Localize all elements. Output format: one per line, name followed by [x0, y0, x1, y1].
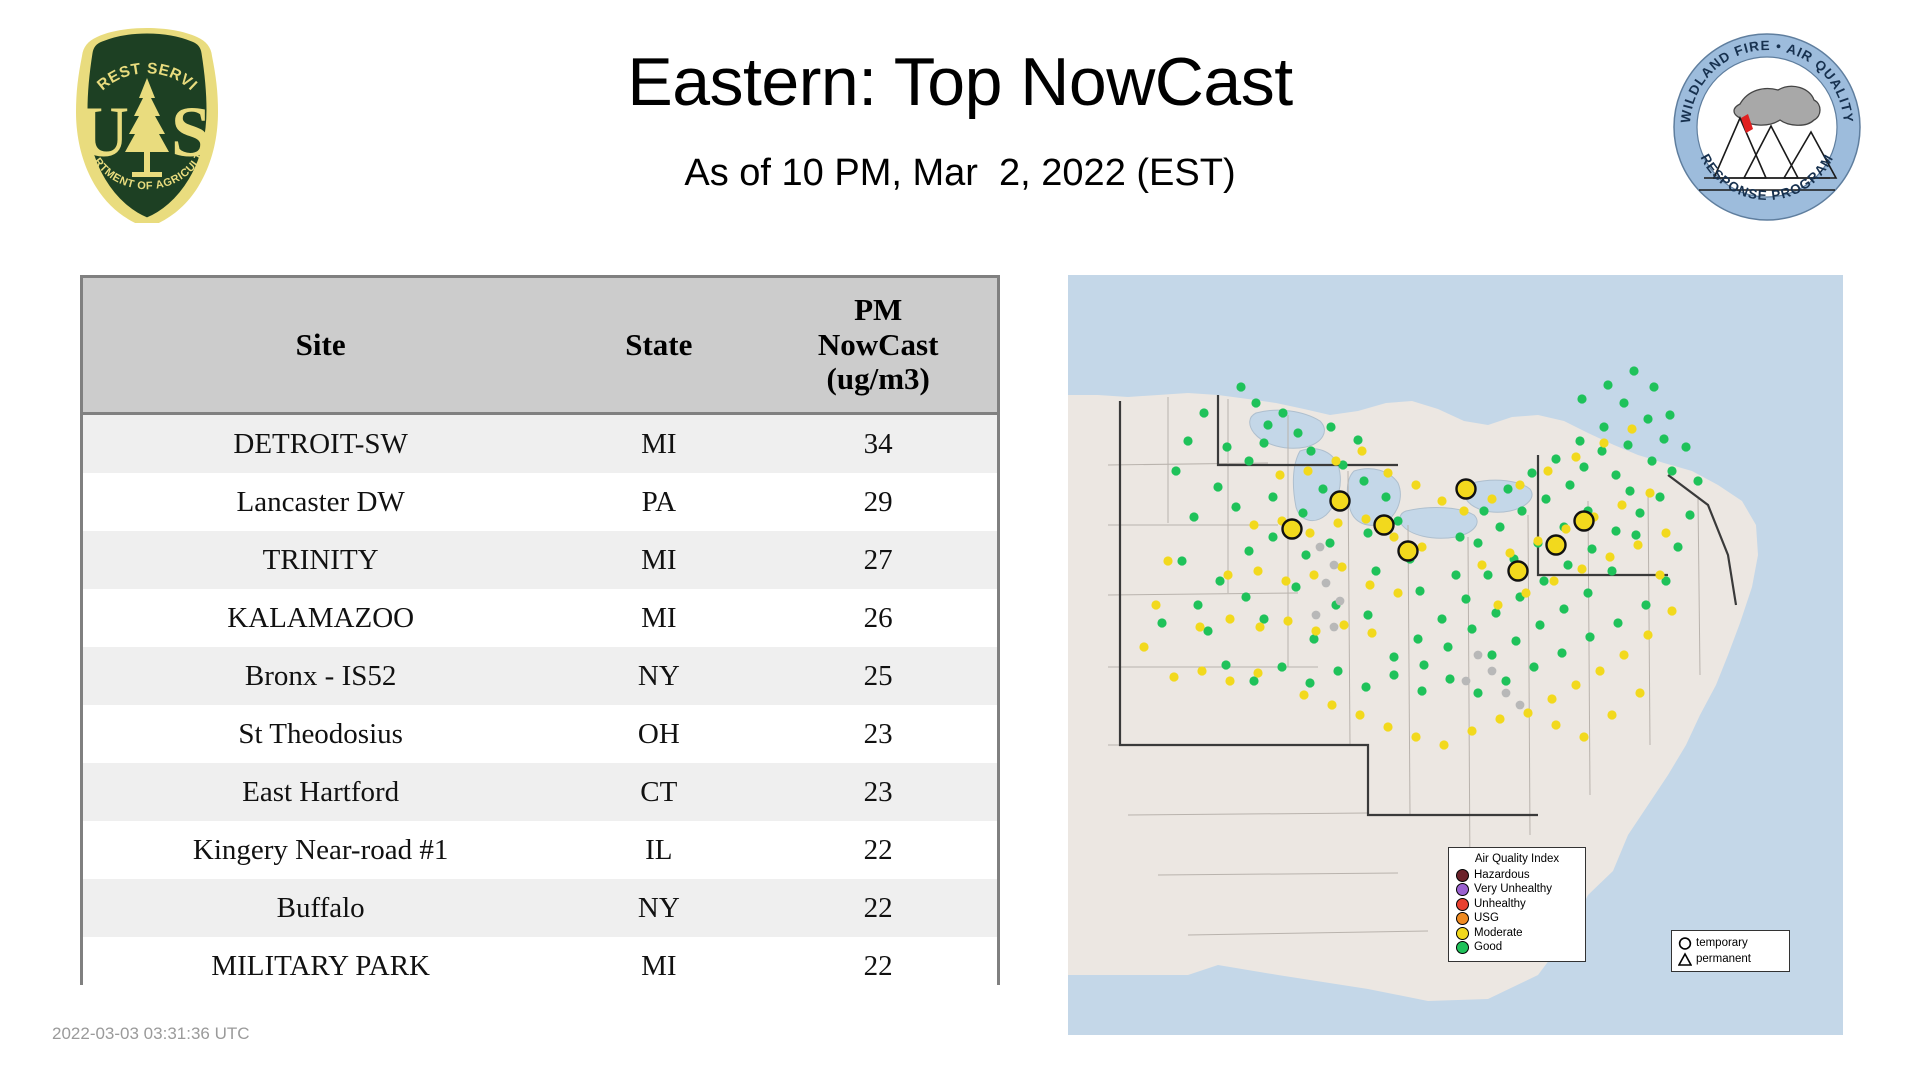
monitor-dot-moderate [1275, 470, 1284, 479]
aqi-color-swatch [1456, 941, 1469, 954]
monitor-dot-moderate [1303, 466, 1312, 475]
monitor-dot-top-site [1509, 562, 1528, 581]
monitor-dot-moderate [1299, 690, 1308, 699]
pm-line-3: (ug/m3) [827, 361, 930, 396]
value-cell: 23 [759, 705, 997, 763]
generation-timestamp: 2022-03-03 03:31:36 UTC [52, 1024, 250, 1044]
monitor-dot-good [1599, 422, 1608, 431]
monitor-dot-good [1249, 676, 1258, 685]
monitor-dot-good [1359, 476, 1368, 485]
aqi-color-swatch [1456, 898, 1469, 911]
monitor-dot-moderate [1571, 452, 1580, 461]
temporary-label: temporary [1696, 937, 1748, 949]
aqi-legend-title: Air Quality Index [1456, 853, 1578, 865]
monitor-dot-good [1393, 516, 1402, 525]
monitor-dot-good [1641, 600, 1650, 609]
monitor-dot-good [1623, 440, 1632, 449]
aqi-legend-item: Moderate [1456, 926, 1578, 941]
aqi-color-swatch [1456, 912, 1469, 925]
monitor-dot-moderate [1393, 588, 1402, 597]
monitor-dot-good [1643, 414, 1652, 423]
aqi-legend-item: Unhealthy [1456, 897, 1578, 912]
monitor-dot-moderate [1339, 620, 1348, 629]
monitor-dot-good [1511, 636, 1520, 645]
monitor-dot-moderate [1411, 732, 1420, 741]
monitor-dot-moderate [1311, 626, 1320, 635]
monitor-dot-good [1244, 546, 1253, 555]
aqi-legend-item: USG [1456, 912, 1578, 927]
monitor-dot-moderate [1495, 714, 1504, 723]
monitor-dot-moderate [1661, 528, 1670, 537]
monitor-dot-good [1277, 662, 1286, 671]
monitor-dot-good [1236, 382, 1245, 391]
monitor-dot-moderate [1327, 700, 1336, 709]
monitor-dot-moderate [1467, 726, 1476, 735]
monitor-dot-moderate [1655, 570, 1664, 579]
state-cell: CT [558, 763, 759, 821]
monitor-dot-good [1659, 434, 1668, 443]
aqi-legend-label: Very Unhealthy [1474, 884, 1552, 896]
monitor-dot-good [1611, 526, 1620, 535]
monitor-dot-moderate [1437, 496, 1446, 505]
monitor-dot-unknown [1502, 689, 1511, 698]
monitor-dot-moderate [1635, 688, 1644, 697]
monitor-dot-unknown [1488, 667, 1497, 676]
monitor-dot-good [1381, 492, 1390, 501]
monitor-dot-good [1585, 632, 1594, 641]
monitor-dot-unknown [1330, 623, 1339, 632]
legend-row-permanent: permanent [1678, 951, 1783, 967]
monitor-dot-moderate [1151, 600, 1160, 609]
state-cell: PA [558, 473, 759, 531]
monitor-dot-moderate [1367, 628, 1376, 637]
monitor-dot-good [1681, 442, 1690, 451]
monitor-dot-moderate [1439, 740, 1448, 749]
monitor-dot-moderate [1305, 528, 1314, 537]
monitor-dot-good [1213, 482, 1222, 491]
value-cell: 22 [759, 937, 997, 995]
monitor-dot-moderate [1643, 630, 1652, 639]
state-cell: MI [558, 531, 759, 589]
monitor-dot-moderate [1417, 542, 1426, 551]
monitor-dot-good [1613, 618, 1622, 627]
monitor-dot-good [1579, 462, 1588, 471]
monitor-dot-good [1587, 544, 1596, 553]
monitor-dot-moderate [1223, 570, 1232, 579]
monitor-dot-good [1305, 678, 1314, 687]
monitor-dot-good [1473, 688, 1482, 697]
air-quality-map[interactable]: Air Quality Index HazardousVery Unhealth… [1068, 275, 1843, 1035]
monitor-dot-moderate [1283, 616, 1292, 625]
monitor-dot-moderate [1337, 562, 1346, 571]
monitor-dot-moderate [1561, 524, 1570, 533]
monitor-dot-good [1318, 484, 1327, 493]
monitor-dot-good [1301, 550, 1310, 559]
monitor-dot-moderate [1411, 480, 1420, 489]
column-header-state: State [558, 278, 759, 414]
aqi-legend-label: Good [1474, 942, 1502, 954]
value-cell: 23 [759, 763, 997, 821]
monitor-dot-moderate [1579, 732, 1588, 741]
monitor-dot-moderate [1389, 532, 1398, 541]
monitor-dot-moderate [1225, 676, 1234, 685]
monitor-dot-good [1221, 660, 1230, 669]
monitor-dot-good [1291, 582, 1300, 591]
monitor-dot-good [1326, 422, 1335, 431]
monitor-dot-good [1529, 662, 1538, 671]
pm-line-2: NowCast [818, 327, 939, 362]
monitor-dot-good [1222, 442, 1231, 451]
aqi-legend-label: USG [1474, 913, 1499, 925]
site-cell: East Hartford [83, 763, 558, 821]
monitor-dot-moderate [1255, 622, 1264, 631]
monitor-dot-good [1363, 528, 1372, 537]
monitor-dot-top-site [1331, 492, 1350, 511]
monitor-dot-good [1649, 382, 1658, 391]
site-cell: Bronx - IS52 [83, 647, 558, 705]
site-cell: Kingery Near-road #1 [83, 821, 558, 879]
monitor-dot-good [1685, 510, 1694, 519]
monitor-dot-moderate [1331, 456, 1340, 465]
value-cell: 29 [759, 473, 997, 531]
table-row: Kingery Near-road #1IL22 [83, 821, 997, 879]
state-cell: NY [558, 879, 759, 937]
monitor-dot-good [1157, 618, 1166, 627]
monitor-dot-top-site [1547, 536, 1566, 555]
monitor-dot-moderate [1383, 722, 1392, 731]
value-cell: 22 [759, 879, 997, 937]
monitor-dot-unknown [1516, 701, 1525, 710]
monitor-dot-good [1268, 492, 1277, 501]
table-row: East HartfordCT23 [83, 763, 997, 821]
monitor-dot-good [1491, 608, 1500, 617]
monitor-dot-good [1557, 648, 1566, 657]
monitor-dot-good [1563, 560, 1572, 569]
monitor-dot-unknown [1316, 543, 1325, 552]
monitor-dot-good [1443, 642, 1452, 651]
monitor-dot-good [1306, 446, 1315, 455]
aqi-color-swatch [1456, 883, 1469, 896]
monitor-dot-good [1517, 506, 1526, 515]
monitor-dot-good [1577, 394, 1586, 403]
monitor-dot-moderate [1551, 720, 1560, 729]
monitor-dot-good [1495, 522, 1504, 531]
monitor-dot-good [1361, 682, 1370, 691]
monitor-dot-good [1325, 538, 1334, 547]
usfs-forest-service-logo: FOREST SERVICE U S DEPARTMENT OF AGRICUL… [52, 28, 242, 223]
monitor-dot-moderate [1477, 560, 1486, 569]
monitor-dot-good [1371, 566, 1380, 575]
monitor-dot-unknown [1322, 579, 1331, 588]
monitor-dot-moderate [1515, 480, 1524, 489]
monitor-dot-moderate [1627, 424, 1636, 433]
value-cell: 25 [759, 647, 997, 705]
state-cell: IL [558, 821, 759, 879]
value-cell: 34 [759, 414, 997, 474]
monitor-dot-good [1231, 502, 1240, 511]
monitor-dot-moderate [1459, 506, 1468, 515]
state-cell: OH [558, 705, 759, 763]
monitor-dot-good [1647, 456, 1656, 465]
monitor-dot-top-site [1399, 542, 1418, 561]
monitor-dot-moderate [1523, 708, 1532, 717]
monitor-dot-good [1244, 456, 1253, 465]
monitor-dot-good [1363, 610, 1372, 619]
monitor-dot-good [1665, 410, 1674, 419]
monitor-dot-moderate [1487, 494, 1496, 503]
monitor-dot-unknown [1312, 611, 1321, 620]
monitor-dot-good [1193, 600, 1202, 609]
monitor-dot-unknown [1462, 677, 1471, 686]
table-row: MILITARY PARKMI22 [83, 937, 997, 995]
monitor-dot-good [1445, 674, 1454, 683]
monitor-dot-good [1607, 566, 1616, 575]
site-cell: TRINITY [83, 531, 558, 589]
monitor-dot-good [1635, 508, 1644, 517]
monitor-dot-good [1259, 614, 1268, 623]
monitor-dot-moderate [1225, 614, 1234, 623]
nowcast-table-panel: Site State PM NowCast (ug/m3) DETROIT-SW… [80, 275, 1000, 985]
page-subtitle: As of 10 PM, Mar 2, 2022 (EST) [280, 152, 1640, 195]
legend-row-temporary: temporary [1678, 935, 1783, 951]
monitor-dot-good [1177, 556, 1186, 565]
monitor-dot-moderate [1599, 438, 1608, 447]
aqi-color-swatch [1456, 927, 1469, 940]
value-cell: 27 [759, 531, 997, 589]
monitor-dot-good [1389, 652, 1398, 661]
aqi-legend-label: Moderate [1474, 928, 1523, 940]
table-row: DETROIT-SWMI34 [83, 414, 997, 474]
monitor-dot-good [1251, 398, 1260, 407]
monitor-dot-good [1199, 408, 1208, 417]
monitor-dot-good [1487, 650, 1496, 659]
monitor-dot-good [1667, 466, 1676, 475]
monitor-dot-moderate [1249, 520, 1258, 529]
table-row: Lancaster DWPA29 [83, 473, 997, 531]
aqi-color-swatch [1456, 869, 1469, 882]
temporary-circle-icon [1678, 936, 1692, 951]
aqi-legend-label: Hazardous [1474, 870, 1530, 882]
monitor-dot-good [1278, 408, 1287, 417]
monitor-dot-good [1298, 508, 1307, 517]
table-body: DETROIT-SWMI34Lancaster DWPA29TRINITYMI2… [83, 414, 997, 996]
aqi-legend-label: Unhealthy [1474, 899, 1526, 911]
monitor-dot-good [1479, 506, 1488, 515]
monitor-dot-good [1625, 486, 1634, 495]
monitor-dot-good [1631, 530, 1640, 539]
monitor-dot-moderate [1521, 588, 1530, 597]
nowcast-table: Site State PM NowCast (ug/m3) DETROIT-SW… [83, 278, 997, 995]
monitor-dot-moderate [1595, 666, 1604, 675]
monitor-dot-moderate [1197, 666, 1206, 675]
site-cell: MILITARY PARK [83, 937, 558, 995]
aqi-legend-item: Very Unhealthy [1456, 883, 1578, 898]
monitor-dot-good [1419, 660, 1428, 669]
site-cell: DETROIT-SW [83, 414, 558, 474]
monitor-dot-good [1611, 470, 1620, 479]
monitor-dot-moderate [1505, 548, 1514, 557]
site-cell: St Theodosius [83, 705, 558, 763]
monitor-dot-unknown [1330, 561, 1339, 570]
monitor-dot-moderate [1667, 606, 1676, 615]
monitor-dot-good [1259, 438, 1268, 447]
monitor-dot-good [1268, 532, 1277, 541]
monitor-dot-moderate [1195, 622, 1204, 631]
state-cell: MI [558, 414, 759, 474]
permanent-triangle-icon [1678, 952, 1692, 967]
monitor-dot-moderate [1547, 694, 1556, 703]
monitor-dot-good [1673, 542, 1682, 551]
state-cell: NY [558, 647, 759, 705]
monitor-dot-moderate [1605, 552, 1614, 561]
monitor-dot-good [1293, 428, 1302, 437]
monitor-dot-good [1559, 604, 1568, 613]
aqi-legend-item: Good [1456, 941, 1578, 956]
monitor-dot-good [1575, 436, 1584, 445]
monitor-dot-moderate [1163, 556, 1172, 565]
monitor-dot-good [1171, 466, 1180, 475]
monitor-dot-good [1541, 494, 1550, 503]
monitor-dot-good [1309, 634, 1318, 643]
title-block: Eastern: Top NowCast As of 10 PM, Mar 2,… [280, 48, 1640, 195]
wfaqrp-logo: WILDLAND FIRE • AIR QUALITY RESPONSE PRO… [1668, 32, 1866, 222]
monitor-dot-good [1353, 435, 1362, 444]
monitor-dot-good [1483, 570, 1492, 579]
monitor-dot-good [1455, 532, 1464, 541]
site-type-legend: temporary permanent [1671, 930, 1790, 972]
site-cell: Lancaster DW [83, 473, 558, 531]
monitor-dot-good [1603, 380, 1612, 389]
monitor-dot-top-site [1575, 512, 1594, 531]
state-cell: MI [558, 589, 759, 647]
page-title: Eastern: Top NowCast [280, 48, 1640, 116]
monitor-dot-good [1461, 594, 1470, 603]
state-cell: MI [558, 937, 759, 995]
monitor-dot-good [1389, 670, 1398, 679]
monitor-dot-good [1527, 468, 1536, 477]
monitor-dot-good [1183, 436, 1192, 445]
monitor-dot-moderate [1253, 668, 1262, 677]
permanent-label: permanent [1696, 953, 1751, 965]
table-row: Bronx - IS52NY25 [83, 647, 997, 705]
monitor-dot-moderate [1309, 570, 1318, 579]
monitor-dot-good [1333, 666, 1342, 675]
monitor-dot-good [1501, 676, 1510, 685]
monitor-dot-moderate [1333, 518, 1342, 527]
monitor-dot-good [1473, 538, 1482, 547]
monitor-dot-good [1451, 570, 1460, 579]
table-row: St TheodosiusOH23 [83, 705, 997, 763]
monitor-dot-good [1583, 588, 1592, 597]
monitor-dot-good [1597, 446, 1606, 455]
monitor-dot-good [1413, 634, 1422, 643]
monitor-dot-good [1417, 686, 1426, 695]
table-row: BuffaloNY22 [83, 879, 997, 937]
monitor-dot-good [1203, 626, 1212, 635]
aqi-legend-rows: HazardousVery UnhealthyUnhealthyUSGModer… [1456, 868, 1578, 955]
table-row: TRINITYMI27 [83, 531, 997, 589]
monitor-dot-moderate [1383, 468, 1392, 477]
monitor-dot-moderate [1493, 600, 1502, 609]
monitor-dot-moderate [1645, 488, 1654, 497]
monitor-dot-good [1215, 576, 1224, 585]
monitor-dot-moderate [1365, 580, 1374, 589]
monitor-dot-unknown [1336, 597, 1345, 606]
value-cell: 26 [759, 589, 997, 647]
monitor-dot-moderate [1355, 710, 1364, 719]
aqi-legend-item: Hazardous [1456, 868, 1578, 883]
monitor-dot-unknown [1474, 651, 1483, 660]
monitor-dot-good [1655, 492, 1664, 501]
monitor-dot-moderate [1619, 650, 1628, 659]
monitor-dot-moderate [1281, 576, 1290, 585]
monitor-dot-top-site [1457, 480, 1476, 499]
monitor-dot-moderate [1617, 500, 1626, 509]
table-row: KALAMAZOOMI26 [83, 589, 997, 647]
column-header-pm-nowcast: PM NowCast (ug/m3) [759, 278, 997, 414]
monitor-dot-top-site [1375, 516, 1394, 535]
monitor-dot-moderate [1169, 672, 1178, 681]
site-cell: KALAMAZOO [83, 589, 558, 647]
monitor-dot-good [1693, 476, 1702, 485]
monitor-dot-good [1629, 366, 1638, 375]
monitor-dot-moderate [1543, 466, 1552, 475]
monitor-dot-moderate [1607, 710, 1616, 719]
monitor-dot-good [1551, 454, 1560, 463]
monitor-dot-moderate [1253, 566, 1262, 575]
site-cell: Buffalo [83, 879, 558, 937]
monitor-dot-good [1565, 480, 1574, 489]
monitor-dot-good [1189, 512, 1198, 521]
monitor-dot-moderate [1139, 642, 1148, 651]
monitor-dot-moderate [1533, 536, 1542, 545]
monitor-dot-moderate [1577, 564, 1586, 573]
monitor-dot-good [1437, 614, 1446, 623]
aqi-legend: Air Quality Index HazardousVery Unhealth… [1448, 847, 1586, 962]
monitor-dot-moderate [1633, 540, 1642, 549]
monitor-dot-good [1467, 624, 1476, 633]
monitor-dot-good [1535, 620, 1544, 629]
column-header-site: Site [83, 278, 558, 414]
monitor-dot-good [1503, 484, 1512, 493]
monitor-dot-good [1619, 398, 1628, 407]
pm-line-1: PM [854, 292, 902, 327]
monitor-dot-good [1263, 420, 1272, 429]
monitor-dot-moderate [1357, 446, 1366, 455]
monitor-dot-top-site [1283, 520, 1302, 539]
monitor-dot-good [1241, 592, 1250, 601]
monitor-dot-good [1539, 576, 1548, 585]
table-header-row: Site State PM NowCast (ug/m3) [83, 278, 997, 414]
monitor-dot-moderate [1571, 680, 1580, 689]
monitor-dot-good [1415, 586, 1424, 595]
monitor-dot-moderate [1361, 514, 1370, 523]
value-cell: 22 [759, 821, 997, 879]
monitor-dot-moderate [1549, 576, 1558, 585]
